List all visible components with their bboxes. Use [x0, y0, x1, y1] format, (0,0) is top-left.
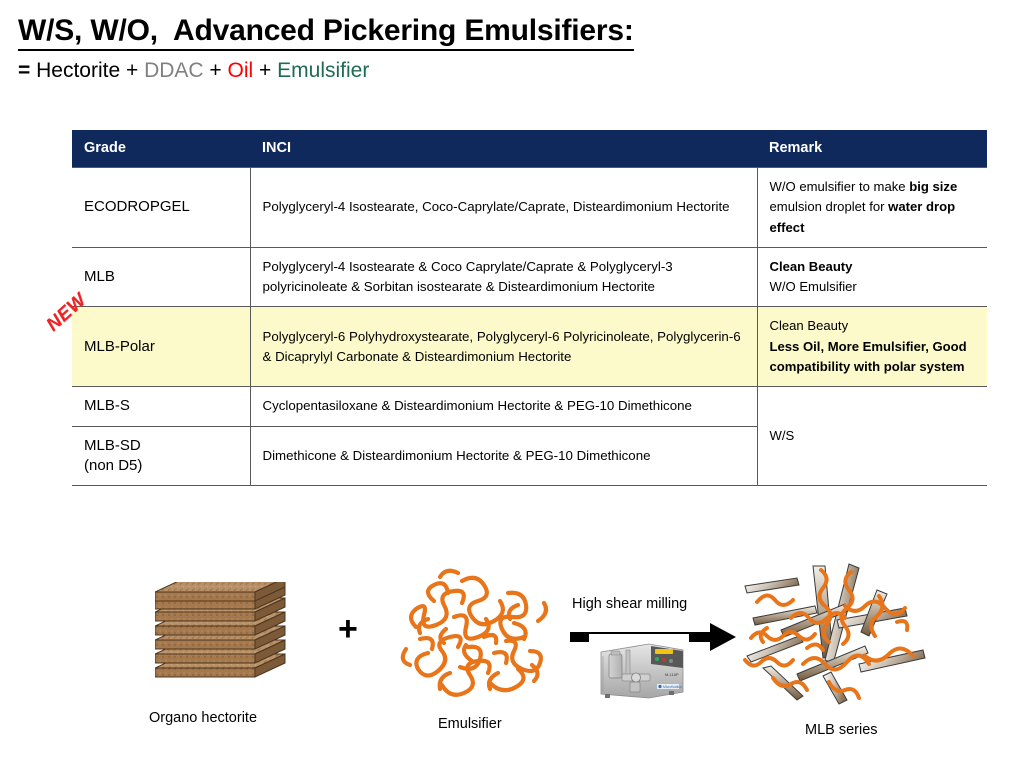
subtitle-hectorite: Hectorite +	[30, 59, 144, 82]
cell-remark: W/O emulsifier to make big size emulsion…	[757, 168, 987, 248]
cell-grade: ECODROPGEL	[72, 168, 250, 248]
cell-grade: MLB-Polar	[72, 307, 250, 387]
tangled-polymer-icon	[398, 565, 558, 715]
subtitle-oil: Oil	[228, 59, 254, 82]
cell-grade: MLB-S	[72, 387, 250, 426]
remark-text-bold: Less Oil, More Emulsifier, Good compatib…	[770, 339, 967, 374]
process-label: High shear milling	[572, 596, 687, 612]
remark-text-plain: W/O Emulsifier	[770, 279, 857, 294]
subtitle-plus-2: +	[253, 59, 277, 82]
svg-text:Microfluidics: Microfluidics	[663, 685, 682, 689]
remark-text-bold: big size	[909, 179, 957, 194]
cell-inci: Cyclopentasiloxane & Disteardimonium Hec…	[250, 387, 757, 426]
subtitle-equals: =	[18, 59, 30, 82]
cell-inci: Polyglyceryl-6 Polyhydroxystearate, Poly…	[250, 307, 757, 387]
cell-grade-line2: (non D5)	[84, 457, 142, 474]
exfoliated-platelets-icon	[737, 560, 927, 720]
layered-plates-icon	[155, 582, 315, 697]
subtitle-plus-1: +	[204, 59, 228, 82]
table-header-row: Grade INCI Remark	[72, 130, 987, 168]
homogenizer-photo-icon: M-110P Microfluidics	[589, 634, 689, 709]
grade-table: Grade INCI Remark ECODROPGEL Polyglycery…	[72, 130, 987, 486]
column-header-inci: INCI	[250, 130, 757, 168]
remark-text-plain: Clean Beauty	[770, 318, 849, 333]
cell-remark: Clean BeautyLess Oil, More Emulsifier, G…	[757, 307, 987, 387]
cell-inci: Dimethicone & Disteardimonium Hectorite …	[250, 426, 757, 486]
label-mlb-series: MLB series	[805, 722, 878, 738]
remark-text-bold: Clean Beauty	[770, 259, 853, 274]
cell-inci: Polyglyceryl-4 Isostearate & Coco Capryl…	[250, 247, 757, 307]
table-row: MLB Polyglyceryl-4 Isostearate & Coco Ca…	[72, 247, 987, 307]
cell-remark-merged-ws: W/S	[757, 387, 987, 486]
table-row-highlighted: MLB-Polar Polyglyceryl-6 Polyhydroxystea…	[72, 307, 987, 387]
cell-grade-line1: MLB-SD	[84, 437, 141, 454]
label-organo-hectorite: Organo hectorite	[149, 710, 257, 726]
plus-icon: +	[338, 612, 358, 646]
remark-text-plain-2: emulsion droplet for	[770, 199, 889, 214]
label-emulsifier: Emulsifier	[438, 716, 502, 732]
cell-grade: MLB-SD(non D5)	[72, 426, 250, 486]
cell-remark: Clean BeautyW/O Emulsifier	[757, 247, 987, 307]
subtitle-emulsifier: Emulsifier	[277, 59, 369, 82]
subtitle-ddac: DDAC	[144, 59, 204, 82]
cell-grade: MLB	[72, 247, 250, 307]
table-row: MLB-S Cyclopentasiloxane & Disteardimoni…	[72, 387, 987, 426]
title-block: W/S, W/O, Advanced Pickering Emulsifiers…	[18, 14, 998, 83]
column-header-remark: Remark	[757, 130, 987, 168]
table-row: ECODROPGEL Polyglyceryl-4 Isostearate, C…	[72, 168, 987, 248]
page-title: W/S, W/O, Advanced Pickering Emulsifiers…	[18, 14, 634, 51]
subtitle-formula: = Hectorite + DDAC + Oil + Emulsifier	[18, 58, 998, 83]
remark-text-plain: W/O emulsifier to make	[770, 179, 910, 194]
cell-inci: Polyglyceryl-4 Isostearate, Coco-Capryla…	[250, 168, 757, 248]
column-header-grade: Grade	[72, 130, 250, 168]
svg-text:M-110P: M-110P	[665, 672, 679, 677]
